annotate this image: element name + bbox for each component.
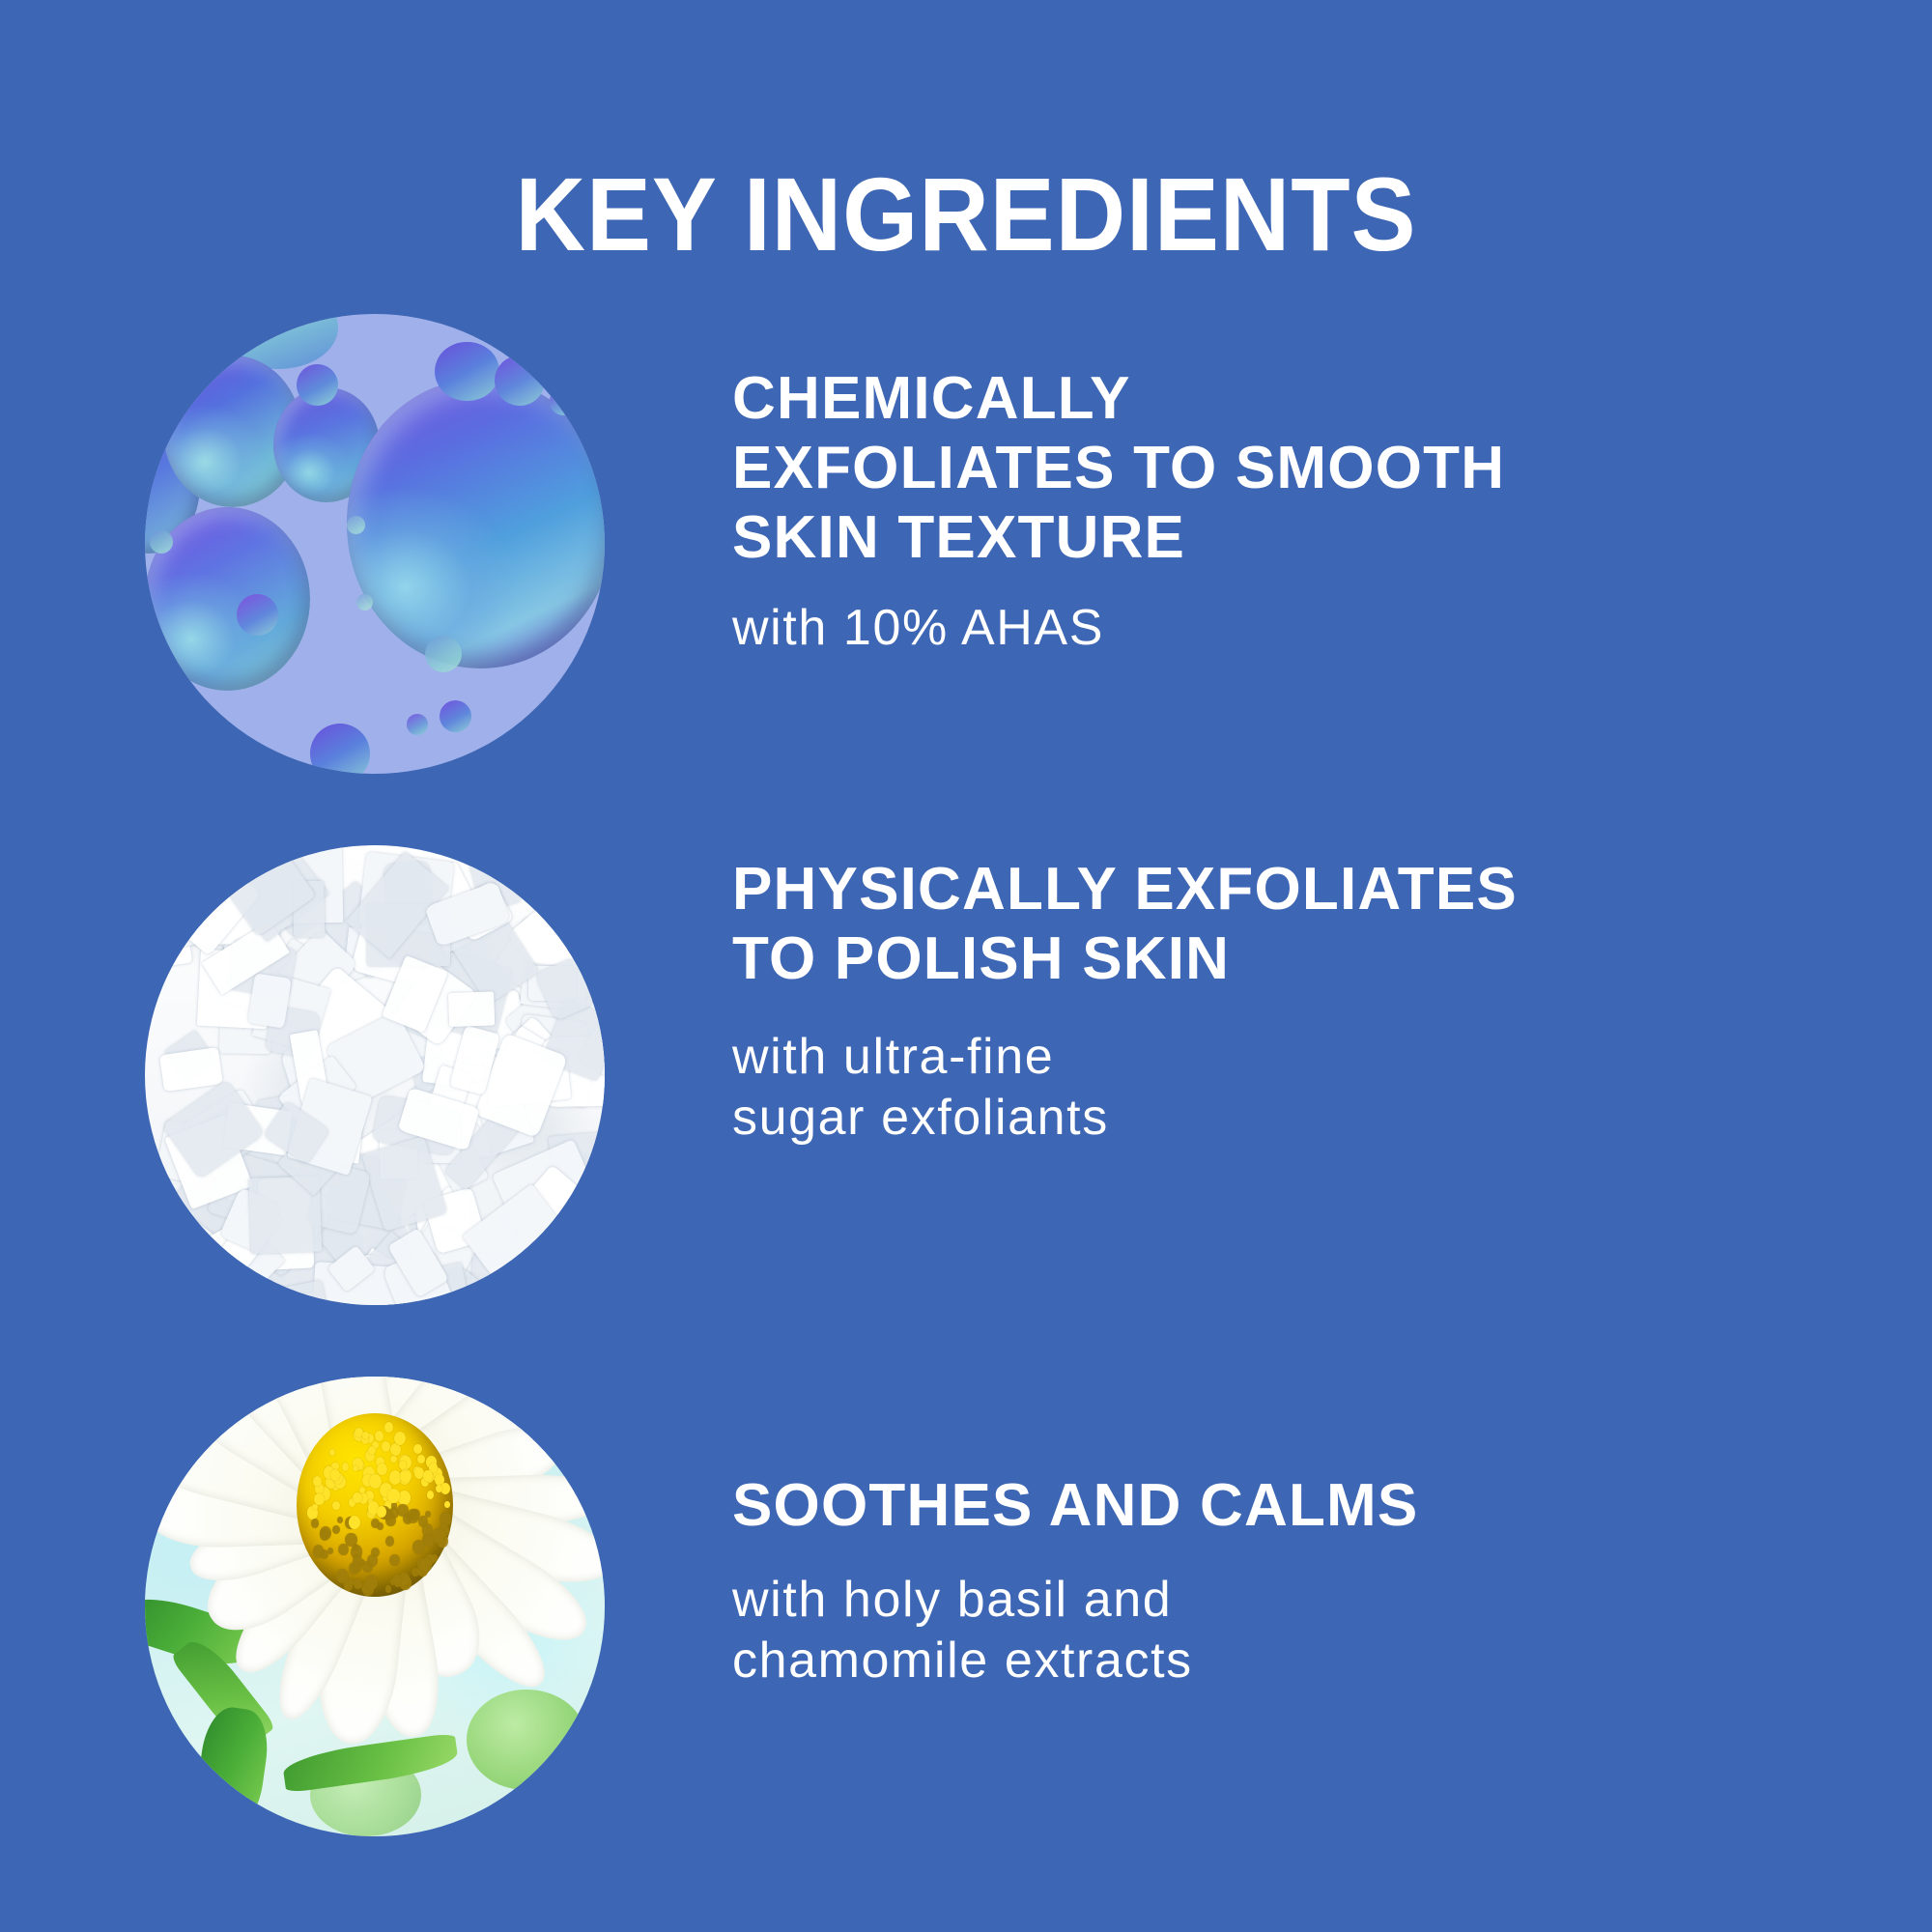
pollen-dot [439, 1524, 449, 1537]
bubble-small [440, 700, 471, 732]
pollen-dot [384, 1422, 393, 1433]
pollen-dot [399, 1461, 406, 1469]
pollen-dot [444, 1501, 450, 1508]
pollen-dot [387, 1489, 399, 1503]
pollen-dot [314, 1493, 325, 1505]
pollen-dot [377, 1506, 386, 1518]
bubble-small [495, 355, 545, 406]
oil-bubbles-image [145, 314, 605, 774]
pollen-dot [411, 1509, 420, 1520]
bubble-small [550, 387, 578, 415]
pollen-dot [354, 1578, 362, 1588]
pollen-dot [389, 1470, 401, 1484]
pollen-dot [398, 1491, 410, 1504]
pollen-dot [311, 1519, 319, 1528]
sugar-crystal [158, 1047, 222, 1092]
pollen-dot [342, 1463, 349, 1471]
ingredient-text-block: PHYSICALLY EXFOLIATES TO POLISH SKIN wit… [732, 855, 1872, 1150]
bubble-small [150, 530, 173, 554]
bubble-small [237, 594, 278, 636]
oil-bubbles-artwork [145, 314, 605, 774]
ingredient-row: CHEMICALLY EXFOLIATES TO SMOOTH SKIN TEX… [0, 314, 1932, 778]
pollen-dot [345, 1533, 356, 1548]
pollen-dot [367, 1554, 378, 1567]
pollen-dot [329, 1449, 335, 1456]
bubble-small [435, 342, 499, 402]
pollen-dot [327, 1548, 333, 1554]
pollen-dot [313, 1545, 324, 1557]
pollen-dot [365, 1575, 378, 1589]
bubble-small [407, 714, 427, 734]
chamomile-flower-image [145, 1377, 605, 1836]
pollen-dot [417, 1455, 424, 1463]
pollen-dot [413, 1444, 421, 1454]
ingredient-heading: CHEMICALLY EXFOLIATES TO SMOOTH SKIN TEX… [732, 364, 1872, 573]
key-ingredients-page: KEY INGREDIENTS [0, 0, 1932, 1932]
pollen-dot [377, 1463, 387, 1475]
pollen-dot [337, 1517, 343, 1523]
pollen-dot [353, 1554, 362, 1566]
ingredient-subtext: with 10% AHAS [732, 598, 1872, 659]
pollen-dot [390, 1456, 397, 1463]
pollen-dot [385, 1585, 392, 1593]
pollen-dot [382, 1441, 390, 1451]
flower-center-disc [297, 1413, 453, 1597]
sugar-crystal [448, 992, 495, 1028]
pollen-dot [330, 1469, 340, 1481]
pollen-dot [436, 1485, 442, 1492]
pollen-dot [375, 1431, 384, 1440]
pollen-dot [349, 1516, 360, 1529]
ingredient-heading: SOOTHES AND CALMS [732, 1471, 1872, 1541]
pollen-dot [427, 1491, 434, 1499]
ingredient-subtext: with ultra-fine sugar exfoliants [732, 1027, 1872, 1150]
pollen-dot [385, 1536, 394, 1547]
pollen-dot [412, 1540, 424, 1554]
bubble-small [297, 364, 338, 406]
bubble-large [347, 379, 605, 668]
ingredient-row: PHYSICALLY EXFOLIATES TO POLISH SKIN wit… [0, 845, 1932, 1309]
pollen-dot [394, 1432, 406, 1445]
ingredient-text-block: SOOTHES AND CALMS with holy basil and ch… [732, 1471, 1872, 1692]
pollen-dot [397, 1504, 408, 1518]
pollen-dot [400, 1469, 412, 1483]
sugar-crystal [571, 855, 605, 898]
pollen-dot [353, 1465, 358, 1472]
pollen-dot [420, 1558, 432, 1572]
pollen-dot [332, 1525, 340, 1534]
pollen-dot [362, 1432, 369, 1439]
ingredient-heading: PHYSICALLY EXFOLIATES TO POLISH SKIN [732, 855, 1872, 994]
ingredient-row: SOOTHES AND CALMS with holy basil and ch… [0, 1377, 1932, 1840]
green-blob [467, 1690, 586, 1791]
pollen-dot [332, 1501, 339, 1510]
pollen-dot [359, 1487, 365, 1493]
pollen-dot [320, 1529, 329, 1541]
ingredient-subtext: with holy basil and chamomile extracts [732, 1570, 1872, 1692]
pollen-dot [425, 1511, 431, 1518]
pollen-dot [423, 1470, 433, 1481]
sugar-crystals-image [145, 845, 605, 1305]
pollen-dot [377, 1522, 384, 1530]
sugar-crystals-artwork [145, 845, 605, 1305]
ingredient-text-block: CHEMICALLY EXFOLIATES TO SMOOTH SKIN TEX… [732, 364, 1872, 659]
page-title: KEY INGREDIENTS [68, 162, 1864, 267]
bubble-small [356, 594, 373, 611]
chamomile-artwork [145, 1377, 605, 1836]
pollen-dot [389, 1554, 399, 1566]
